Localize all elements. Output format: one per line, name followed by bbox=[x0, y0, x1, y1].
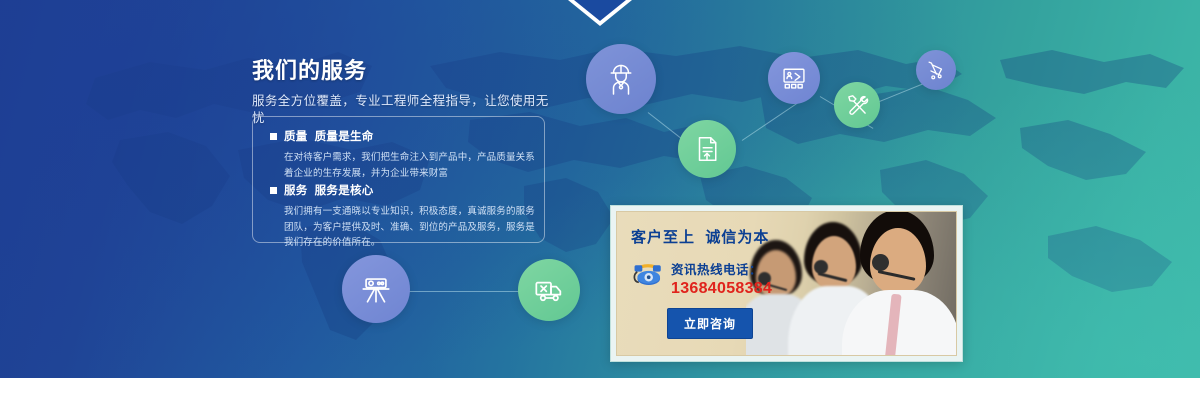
node-engineer-hardhat[interactable] bbox=[586, 44, 656, 114]
survey-tripod-icon bbox=[359, 272, 393, 306]
delivery-truck-icon bbox=[533, 274, 565, 306]
node-document-upload[interactable] bbox=[678, 120, 736, 178]
square-bullet-icon bbox=[270, 187, 277, 194]
banner-background: 我们的服务 服务全方位覆盖，专业工程师全程指导，让您使用无忧 质量 质量是生命 … bbox=[0, 0, 1200, 378]
feature-heading-row: 服务 服务是核心 bbox=[270, 182, 538, 198]
feature-block-quality: 质量 质量是生命 在对待客户需求，我们把生命注入到产品中，产品质量关系着企业的生… bbox=[270, 128, 538, 181]
card-slogan: 客户至上 诚信为本 bbox=[631, 226, 821, 247]
engineer-hardhat-icon bbox=[603, 61, 639, 97]
node-hand-cart[interactable] bbox=[916, 50, 956, 90]
consult-now-button[interactable]: 立即咨询 bbox=[667, 308, 753, 339]
hotline-row: 资讯热线电话： 13684058384 bbox=[631, 258, 821, 298]
feature-heading-row: 质量 质量是生命 bbox=[270, 128, 538, 144]
hotline-number: 13684058384 bbox=[671, 280, 772, 298]
node-delivery-truck[interactable] bbox=[518, 259, 580, 321]
node-hammer-wrench[interactable] bbox=[834, 82, 880, 128]
service-banner-screenshot: 我们的服务 服务全方位覆盖，专业工程师全程指导，让您使用无忧 质量 质量是生命 … bbox=[0, 0, 1200, 400]
hotline-lines: 资讯热线电话： 13684058384 bbox=[671, 258, 772, 298]
feature-body: 在对待客户需求，我们把生命注入到产品中，产品质量关系着企业的生存发展，并为企业带… bbox=[270, 150, 538, 181]
node-training-board[interactable] bbox=[768, 52, 820, 104]
feature-heading: 质量 质量是生命 bbox=[284, 128, 374, 144]
node-link bbox=[872, 81, 930, 105]
rotary-telephone-icon bbox=[631, 258, 665, 293]
hammer-wrench-icon bbox=[844, 92, 870, 118]
contact-card[interactable]: 客户至上 诚信为本 bbox=[610, 205, 963, 362]
service-node-graph bbox=[0, 0, 1200, 378]
node-link bbox=[742, 100, 802, 141]
document-upload-icon bbox=[692, 134, 722, 164]
hotline-label: 资讯热线电话： bbox=[671, 259, 772, 278]
hand-cart-icon bbox=[925, 59, 947, 81]
node-link bbox=[402, 291, 524, 292]
node-survey-tripod[interactable] bbox=[342, 255, 410, 323]
training-board-icon bbox=[780, 64, 808, 92]
page-title: 我们的服务 bbox=[252, 58, 552, 84]
contact-card-text: 客户至上 诚信为本 bbox=[631, 226, 821, 339]
feature-block-service: 服务 服务是核心 我们拥有一支通晓以专业知识，积极态度，真诚服务的服务团队，为客… bbox=[270, 182, 538, 251]
contact-card-inner: 客户至上 诚信为本 bbox=[616, 211, 957, 356]
feature-heading: 服务 服务是核心 bbox=[284, 182, 374, 198]
square-bullet-icon bbox=[270, 133, 277, 140]
feature-body: 我们拥有一支通晓以专业知识，积极态度，真诚服务的服务团队，为客户提供及时、准确、… bbox=[270, 204, 538, 251]
